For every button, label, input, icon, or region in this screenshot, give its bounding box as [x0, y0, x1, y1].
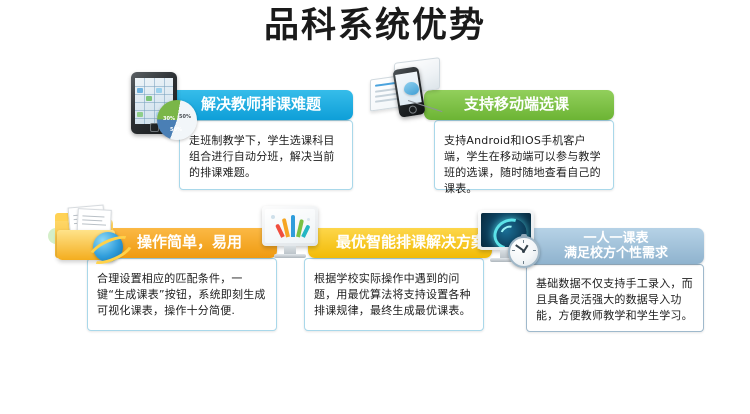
infographic-board: 品科系统优势	[0, 0, 750, 414]
page-title: 品科系统优势	[0, 0, 750, 46]
card-optimal-scheduling[interactable]: 最优智能排课解决方案 根据学校实际操作中遇到的问题，用最优算法将支持设置各种排课…	[262, 206, 492, 331]
monitor-clock-icon	[478, 210, 542, 268]
card-easy-to-use[interactable]: 操作简单，易用 合理设置相应的匹配条件，一键“生成课表”按钮，系统即刻生成可视化…	[55, 206, 277, 331]
card-body-text: 根据学校实际操作中遇到的问题，用最优算法将支持设置各种排课规律，最终生成最优课表…	[314, 271, 474, 319]
smartphone-icon	[370, 60, 450, 130]
card-heading-banner: 最优智能排课解决方案	[308, 228, 492, 258]
monitor-frame	[262, 206, 318, 246]
card-body: 合理设置相应的匹配条件，一键“生成课表”按钮，系统即刻生成可视化课表，操作十分简…	[87, 258, 277, 331]
card-mobile-course-selection[interactable]: 支持移动端选课 支持Android和IOS手机客户端，学生在移动端可以参与教学班…	[370, 60, 614, 190]
card-body: 走班制教学下，学生选课科目组合进行自动分班，解决当前的排课难题。	[179, 120, 353, 190]
touch-cursor-icon	[404, 82, 419, 95]
card-heading-text: 一人一课表 满足校方个性需求	[564, 231, 668, 262]
monitor-base	[274, 254, 306, 258]
card-heading-text: 支持移动端选课	[464, 96, 569, 114]
card-personal-timetable[interactable]: 一人一课表 满足校方个性需求 基础数据不仅支持手工录入，而且具备灵活强大的数据导…	[478, 210, 704, 332]
monitor-screen	[265, 209, 315, 243]
folder-browser-icon	[55, 206, 127, 266]
phone-home-button	[408, 105, 417, 114]
pie-slice-label: 30%	[163, 116, 175, 122]
card-heading-text: 解决教师排课难题	[201, 96, 321, 114]
card-body-text: 支持Android和IOS手机客户端，学生在移动端可以参与教学班的选课，随时随地…	[444, 133, 604, 197]
card-body: 支持Android和IOS手机客户端，学生在移动端可以参与教学班的选课，随时随地…	[434, 120, 614, 190]
card-heading-text: 操作简单，易用	[137, 234, 242, 252]
card-body-text: 基础数据不仅支持手工录入，而且具备灵活强大的数据导入功能，方便教师教学和学生学习…	[536, 276, 694, 324]
card-body: 基础数据不仅支持手工录入，而且具备灵活强大的数据导入功能，方便教师教学和学生学习…	[526, 264, 704, 332]
card-body-text: 走班制教学下，学生选课科目组合进行自动分班，解决当前的排课难题。	[189, 133, 343, 181]
tablet-pie-chart-icon: 30% 50% 50%	[131, 72, 201, 144]
pie-chart-icon: 30% 50% 50%	[157, 100, 197, 140]
clock-icon	[508, 236, 540, 268]
card-body: 根据学校实际操作中遇到的问题，用最优算法将支持设置各种排课规律，最终生成最优课表…	[304, 258, 484, 331]
pie-slice-label: 50%	[179, 114, 191, 120]
pie-slice-label: 50%	[170, 127, 182, 133]
browser-globe-icon	[93, 232, 123, 262]
card-teacher-scheduling[interactable]: 30% 50% 50% 解决教师排课难题 走班制教学下，学生选课科目组合进行自动…	[131, 72, 353, 190]
card-body-text: 合理设置相应的匹配条件，一键“生成课表”按钮，系统即刻生成可视化课表，操作十分简…	[97, 271, 267, 319]
card-heading-banner: 支持移动端选课	[424, 90, 614, 120]
card-heading-banner: 一人一课表 满足校方个性需求	[528, 228, 704, 264]
card-heading-text: 最优智能排课解决方案	[336, 234, 486, 252]
monitor-chart-icon	[262, 206, 322, 262]
